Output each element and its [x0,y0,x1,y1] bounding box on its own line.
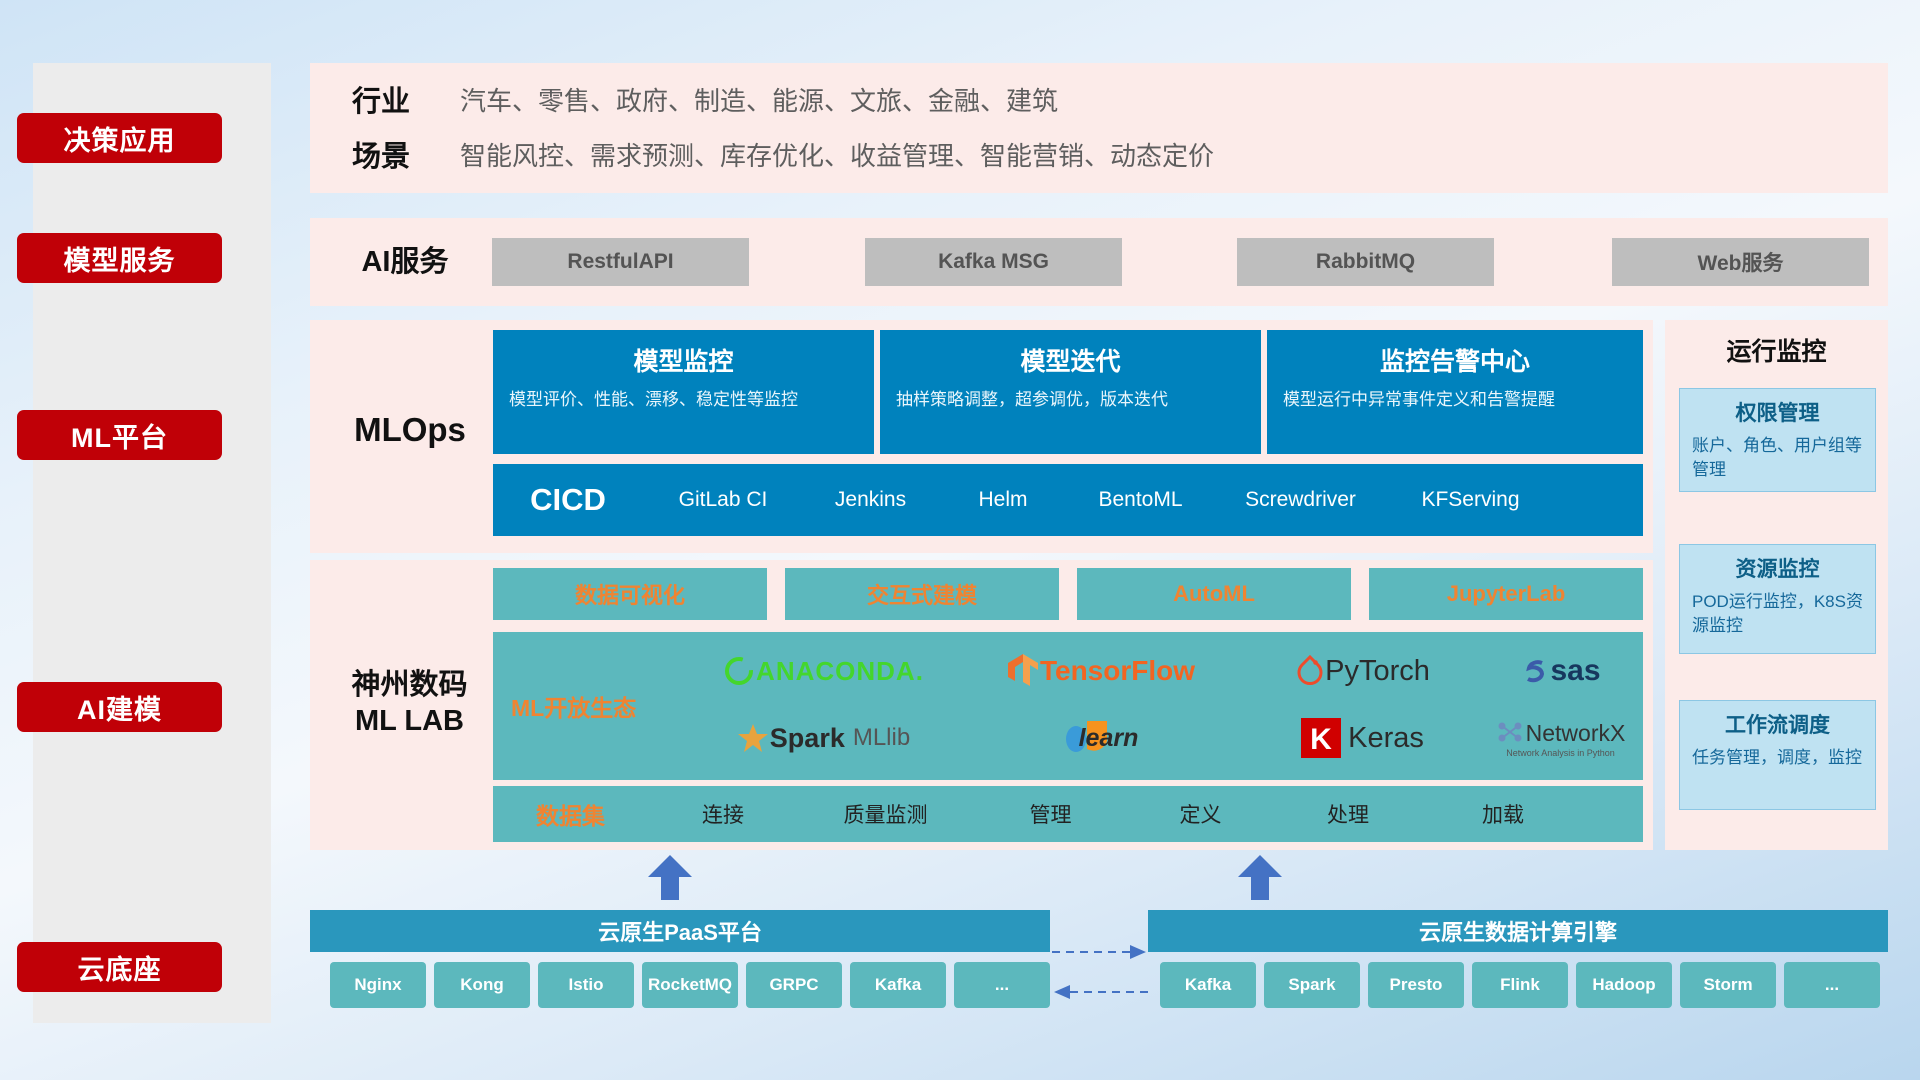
chip-label: Storm [1703,976,1752,994]
pytorch-logo: PyTorch [1245,640,1480,702]
paas-chip-rocketmq[interactable]: RocketMQ [642,962,738,1008]
architecture-diagram: 决策应用 模型服务 ML平台 AI建模 云底座 行业 汽车、零售、政府、制造、能… [0,0,1920,1080]
chip-label: RocketMQ [648,976,732,994]
rail-item-cloud-base[interactable]: 云底座 [17,942,222,992]
dataset-bar: 数据集 连接 质量监测 管理 定义 处理 加载 [493,786,1643,842]
svg-text:K: K [1310,723,1332,756]
engine-chip-spark[interactable]: Spark [1264,962,1360,1008]
cicd-title: CICD [493,482,643,518]
service-pill-web-service[interactable]: Web服务 [1612,238,1869,286]
sas-logo-text: sas [1550,654,1600,688]
ops-card-desc: 模型评价、性能、漂移、稳定性等监控 [509,388,858,413]
chip-label: Kong [460,976,503,994]
chip-label: Spark [1288,976,1335,994]
keras-logo-text: Keras [1348,722,1424,755]
lab-tab-label: 数据可视化 [575,578,685,610]
service-pill-label: RabbitMQ [1316,250,1415,274]
lab-tab-label: 交互式建模 [867,578,977,610]
cicd-item-bentoml[interactable]: BentoML [1068,489,1213,511]
lab-tab-jupyterlab[interactable]: JupyterLab [1369,568,1643,620]
cicd-bar: CICD GitLab CI Jenkins Helm BentoML Scre… [493,464,1643,536]
chip-label: Presto [1390,976,1443,994]
ops-card-title: 监控告警中心 [1283,342,1627,378]
cloud-link-arrows-icon [1050,940,1150,1010]
ops-card-alert-center[interactable]: 监控告警中心 模型运行中异常事件定义和告警提醒 [1267,330,1643,454]
monitoring-card-title: 工作流调度 [1692,709,1863,739]
dataset-item-connect[interactable]: 连接 [648,799,798,829]
monitoring-card-title: 资源监控 [1692,553,1863,583]
industry-value: 汽车、零售、政府、制造、能源、文旅、金融、建筑 [460,81,1058,118]
layer-rail [33,63,271,1023]
lab-tab-label: AutoML [1173,581,1255,607]
mlops-label: MLOps [330,405,490,455]
cicd-item-screwdriver[interactable]: Screwdriver [1213,489,1388,511]
keras-logo: K Keras [1245,706,1480,770]
dataset-item-define[interactable]: 定义 [1128,799,1273,829]
dataset-item-manage[interactable]: 管理 [973,799,1128,829]
data-engine-title: 云原生数据计算引擎 [1419,915,1617,947]
monitoring-card-title: 权限管理 [1692,397,1863,427]
engine-chip-more[interactable]: ... [1784,962,1880,1008]
engine-chip-hadoop[interactable]: Hadoop [1576,962,1672,1008]
spark-logo-text: Spark [770,723,845,754]
engine-chip-kafka[interactable]: Kafka [1160,962,1256,1008]
networkx-logo: NetworkX Network Analysis in Python [1478,706,1643,770]
networkx-logo-text: NetworkX [1526,720,1626,747]
lab-tab-automl[interactable]: AutoML [1077,568,1351,620]
ops-card-model-monitoring[interactable]: 模型监控 模型评价、性能、漂移、稳定性等监控 [493,330,874,454]
chip-label: Hadoop [1592,976,1655,994]
service-pill-restfulapi[interactable]: RestfulAPI [492,238,749,286]
paas-platform-bar: 云原生PaaS平台 [310,910,1050,952]
paas-chip-nginx[interactable]: Nginx [330,962,426,1008]
service-pill-rabbitmq[interactable]: RabbitMQ [1237,238,1494,286]
sas-logo: sas [1483,640,1638,702]
rail-item-application[interactable]: 决策应用 [17,113,222,163]
cicd-item-gitlab-ci[interactable]: GitLab CI [643,489,803,511]
chip-label: Kafka [875,976,921,994]
lab-tab-interactive-modeling[interactable]: 交互式建模 [785,568,1059,620]
networkx-logo-tagline: Network Analysis in Python [1506,748,1615,758]
chip-label: Flink [1500,976,1540,994]
ml-lab-label-line2: ML LAB [355,703,464,739]
rail-label: 云底座 [78,948,162,987]
paas-chip-more[interactable]: ... [954,962,1050,1008]
ml-lab-label: 神州数码 ML LAB [322,668,497,738]
monitoring-card-resource[interactable]: 资源监控 POD运行监控，K8S资源监控 [1679,544,1876,654]
tensorflow-logo-text: TensorFlow [1040,655,1195,687]
paas-chip-kafka[interactable]: Kafka [850,962,946,1008]
engine-chip-presto[interactable]: Presto [1368,962,1464,1008]
anaconda-logo-text: ANACONDA. [756,656,924,687]
paas-chip-kong[interactable]: Kong [434,962,530,1008]
ml-ecosystem-panel: ML开放生态 ANACONDA. TensorFlow PyTorch sas [493,632,1643,780]
rail-label: 模型服务 [64,239,176,278]
chip-label: ... [995,976,1009,994]
monitoring-card-desc: 账户、角色、用户组等管理 [1692,434,1863,482]
cicd-item-kfserving[interactable]: KFServing [1388,489,1553,511]
ops-card-title: 模型监控 [509,342,858,378]
scenario-key: 场景 [352,133,460,175]
monitoring-card-permission[interactable]: 权限管理 账户、角色、用户组等管理 [1679,388,1876,492]
ops-card-title: 模型迭代 [896,342,1245,378]
monitoring-card-workflow[interactable]: 工作流调度 任务管理，调度，监控 [1679,700,1876,810]
rail-label: ML平台 [71,416,168,455]
rail-item-model-service[interactable]: 模型服务 [17,233,222,283]
scikit-learn-logo-text: learn [1079,724,1139,753]
mllib-logo-text: MLlib [853,724,910,752]
service-pill-label: RestfulAPI [567,250,673,274]
cicd-item-jenkins[interactable]: Jenkins [803,489,938,511]
ai-service-label: AI服务 [330,238,480,286]
rail-label: AI建模 [77,688,162,727]
pytorch-logo-text: PyTorch [1325,655,1430,688]
tensorflow-logo: TensorFlow [963,640,1238,702]
rail-label: 决策应用 [64,119,176,158]
service-pill-label: Web服务 [1698,247,1784,277]
dataset-item-quality[interactable]: 质量监测 [798,799,973,829]
data-engine-bar: 云原生数据计算引擎 [1148,910,1888,952]
dataset-item-process[interactable]: 处理 [1273,799,1423,829]
chip-label: GRPC [769,976,818,994]
monitoring-card-desc: 任务管理，调度，监控 [1692,746,1863,770]
rail-item-ml-platform[interactable]: ML平台 [17,410,222,460]
rail-item-ai-modeling[interactable]: AI建模 [17,682,222,732]
scenario-value: 智能风控、需求预测、库存优化、收益管理、智能营销、动态定价 [460,136,1214,173]
monitoring-card-desc: POD运行监控，K8S资源监控 [1692,590,1863,638]
chip-label: Istio [569,976,604,994]
lab-tab-label: JupyterLab [1447,581,1566,607]
industry-key: 行业 [352,78,460,120]
scenario-row: 场景 智能风控、需求预测、库存优化、收益管理、智能营销、动态定价 [352,133,1214,175]
paas-platform-title: 云原生PaaS平台 [598,915,762,947]
ops-card-model-iteration[interactable]: 模型迭代 抽样策略调整，超参调优，版本迭代 [880,330,1261,454]
anaconda-logo: ANACONDA. [688,640,958,702]
dataset-head: 数据集 [493,797,648,831]
engine-chip-flink[interactable]: Flink [1472,962,1568,1008]
chip-label: Nginx [354,976,401,994]
chip-label: Kafka [1185,976,1231,994]
paas-chip-istio[interactable]: Istio [538,962,634,1008]
engine-chip-storm[interactable]: Storm [1680,962,1776,1008]
dataset-item-load[interactable]: 加载 [1423,799,1583,829]
arrow-up-paas-icon [640,855,700,900]
spark-mllib-logo: Spark MLlib [688,706,958,770]
ops-card-desc: 抽样策略调整，超参调优，版本迭代 [896,388,1245,413]
ops-card-desc: 模型运行中异常事件定义和告警提醒 [1283,388,1627,413]
service-pill-kafka-msg[interactable]: Kafka MSG [865,238,1122,286]
arrow-up-engine-icon [1230,855,1290,900]
lab-tab-data-visualization[interactable]: 数据可视化 [493,568,767,620]
scikit-learn-logo: learn [963,706,1238,770]
chip-label: ... [1825,976,1839,994]
ml-ecosystem-label: ML开放生态 [511,689,636,723]
service-pill-label: Kafka MSG [938,250,1049,274]
cicd-item-helm[interactable]: Helm [938,489,1068,511]
paas-chip-grpc[interactable]: GRPC [746,962,842,1008]
industry-row: 行业 汽车、零售、政府、制造、能源、文旅、金融、建筑 [352,78,1058,120]
ml-lab-label-line1: 神州数码 [351,667,467,703]
monitoring-title: 运行监控 [1665,332,1888,368]
